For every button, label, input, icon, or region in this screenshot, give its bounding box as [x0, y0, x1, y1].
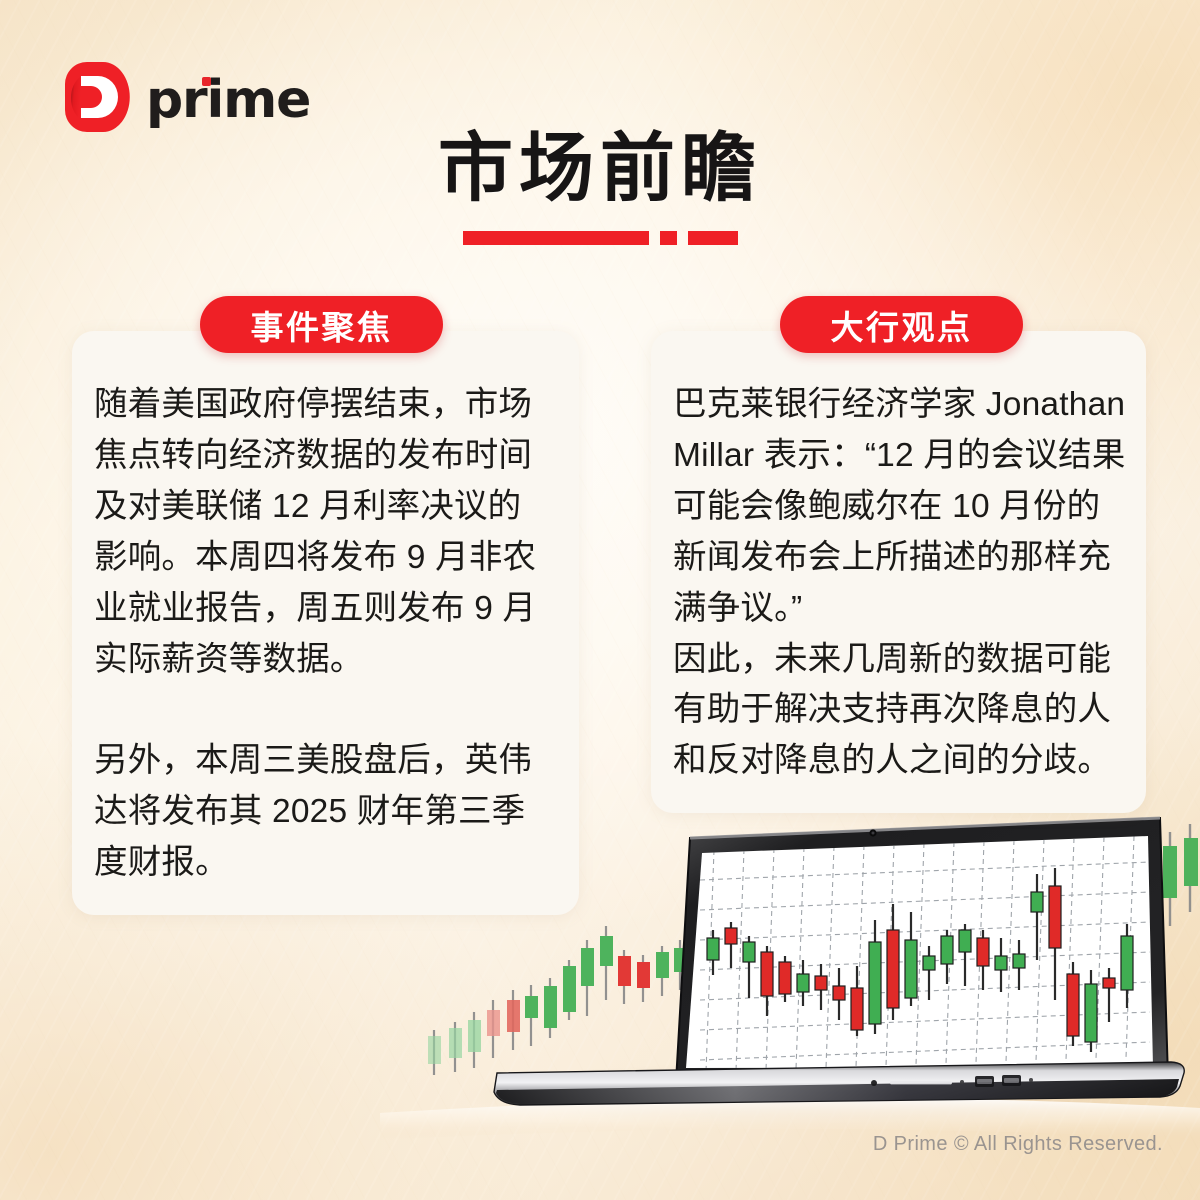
card-bank-view-paragraph-2: 因此，未来几周新的数据可能有助于解决支持再次降息的人和反对降息的人之间的分歧。 [673, 635, 1126, 788]
screen-candlestick-series [707, 868, 1133, 1052]
card-bank-view: 巴克莱银行经济学家 Jonathan Millar 表示：“12 月的会议结果可… [651, 331, 1146, 813]
footer-copyright: D Prime © All Rights Reserved. [873, 1133, 1163, 1156]
divider-segment-dot [660, 231, 677, 245]
poster-canvas: prime 市场前瞻 随着美国政府停摆结束，市场焦点转向经济数据的发布时间及对美… [0, 0, 1200, 1200]
laptop-ports-icon [871, 1075, 1033, 1087]
page-title: 市场前瞻 [0, 131, 1200, 206]
card-event-focus-paragraph-2: 另外，本周三美股盘后，英伟达将发布其 2025 财年第三季度财报。 [94, 736, 551, 889]
brand-wordmark: prime [146, 74, 310, 126]
divider-segment-short [688, 231, 738, 245]
brand-logo[interactable]: prime [57, 58, 310, 136]
badge-bank-view-label: 大行观点 [831, 301, 973, 349]
badge-event-focus-label: 事件聚焦 [251, 301, 393, 349]
d-prime-logo-icon [57, 58, 133, 136]
title-block: 市场前瞻 [0, 131, 1200, 245]
title-divider [0, 231, 1200, 245]
laptop-device-icon [494, 818, 1184, 1105]
card-bank-view-body: 巴克莱银行经济学家 Jonathan Millar 表示：“12 月的会议结果可… [651, 331, 1146, 813]
badge-bank-view: 大行观点 [780, 296, 1023, 353]
laptop-shadow [460, 1061, 1200, 1129]
card-bank-view-paragraph-1: 巴克莱银行经济学家 Jonathan Millar 表示：“12 月的会议结果可… [673, 380, 1126, 635]
card-event-focus-body: 随着美国政府停摆结束，市场焦点转向经济数据的发布时间及对美联储 12 月利率决议… [72, 331, 579, 915]
divider-segment-long [463, 231, 649, 245]
card-event-focus-paragraph-1: 随着美国政府停摆结束，市场焦点转向经济数据的发布时间及对美联储 12 月利率决议… [94, 380, 551, 685]
badge-event-focus: 事件聚焦 [200, 296, 443, 353]
card-event-focus: 随着美国政府停摆结束，市场焦点转向经济数据的发布时间及对美联储 12 月利率决议… [72, 331, 579, 915]
brand-wordmark-text: prime [146, 70, 310, 130]
logo-i-dot-icon [202, 77, 211, 86]
